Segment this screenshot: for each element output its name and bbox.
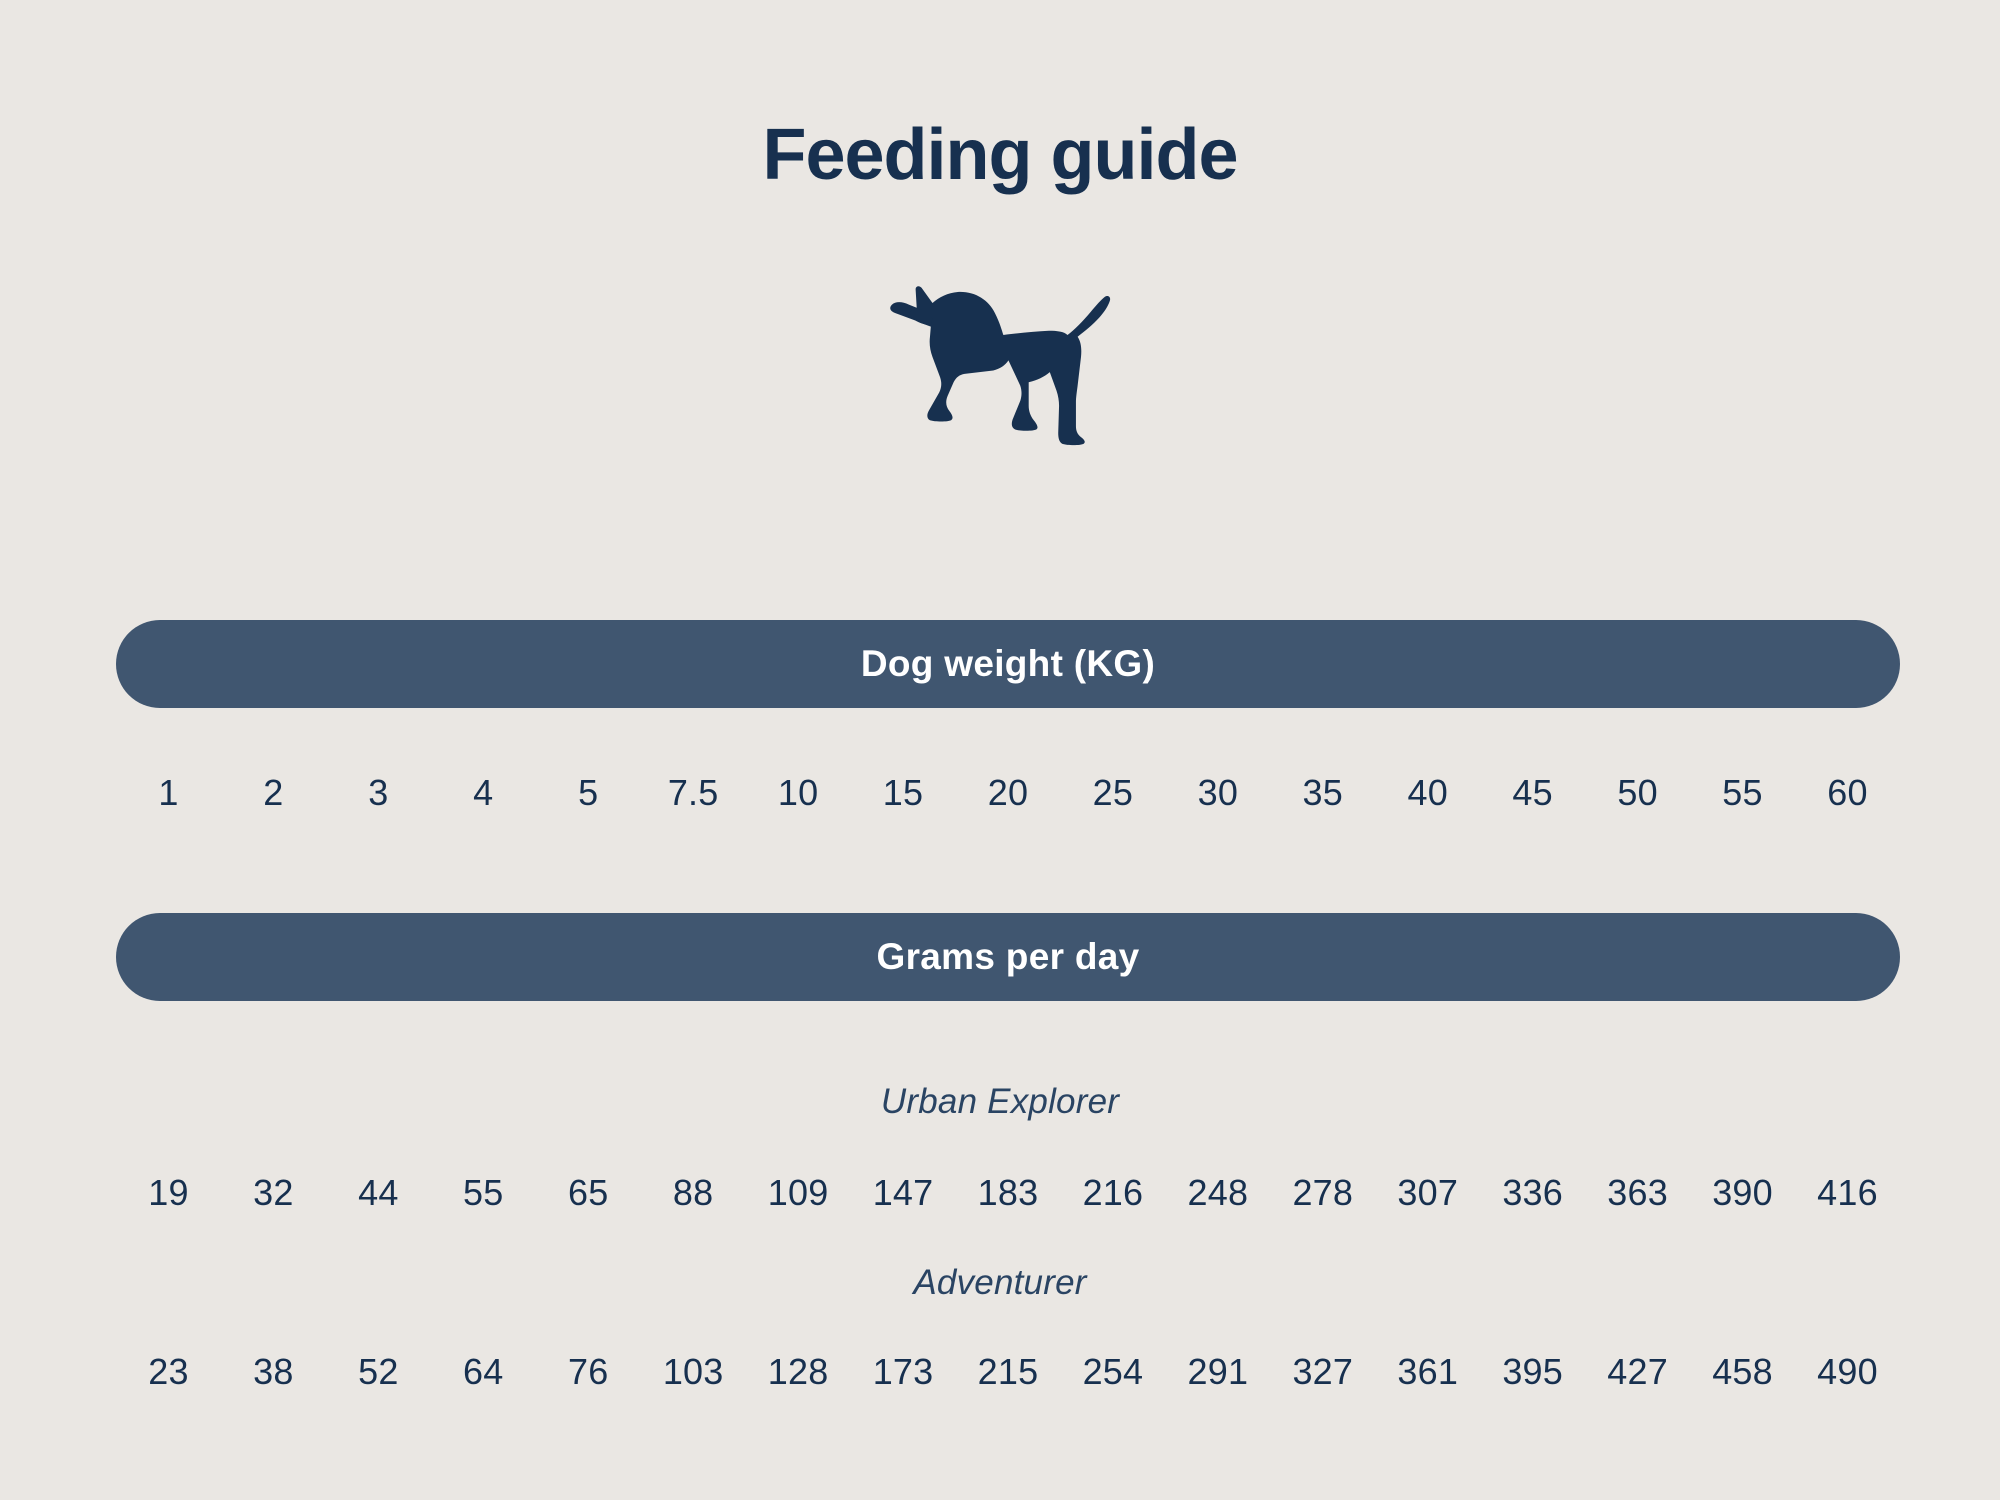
weight-cell: 20 — [956, 772, 1061, 814]
weight-cell: 1 — [116, 772, 221, 814]
urban-explorer-cell: 216 — [1060, 1172, 1165, 1214]
dog-silhouette-icon — [865, 262, 1135, 462]
adventurer-cell: 291 — [1165, 1351, 1270, 1393]
weight-cell: 2 — [221, 772, 326, 814]
urban-explorer-cell: 416 — [1795, 1172, 1900, 1214]
urban-explorer-cell: 363 — [1585, 1172, 1690, 1214]
dog-illustration — [0, 262, 2000, 462]
urban-explorer-values-row: 1932445565881091471832162482783073363633… — [116, 1172, 1900, 1214]
page-title: Feeding guide — [0, 118, 2000, 194]
weight-cell: 60 — [1795, 772, 1900, 814]
product-label-urban-explorer: Urban Explorer — [0, 1082, 2000, 1122]
adventurer-cell: 361 — [1375, 1351, 1480, 1393]
adventurer-cell: 215 — [956, 1351, 1061, 1393]
urban-explorer-cell: 88 — [641, 1172, 746, 1214]
adventurer-cell: 52 — [326, 1351, 431, 1393]
adventurer-cell: 254 — [1060, 1351, 1165, 1393]
weight-cell: 10 — [746, 772, 851, 814]
urban-explorer-cell: 307 — [1375, 1172, 1480, 1214]
adventurer-cell: 327 — [1270, 1351, 1375, 1393]
weight-cell: 4 — [431, 772, 536, 814]
weight-cell: 5 — [536, 772, 641, 814]
urban-explorer-cell: 183 — [956, 1172, 1061, 1214]
weight-cell: 55 — [1690, 772, 1795, 814]
adventurer-cell: 128 — [746, 1351, 851, 1393]
urban-explorer-cell: 390 — [1690, 1172, 1795, 1214]
urban-explorer-cell: 32 — [221, 1172, 326, 1214]
weight-cell: 7.5 — [641, 772, 746, 814]
urban-explorer-cell: 19 — [116, 1172, 221, 1214]
urban-explorer-cell: 147 — [851, 1172, 956, 1214]
weight-cell: 3 — [326, 772, 431, 814]
weight-cell: 30 — [1165, 772, 1270, 814]
weight-cell: 50 — [1585, 772, 1690, 814]
weight-cell: 25 — [1060, 772, 1165, 814]
adventurer-cell: 395 — [1480, 1351, 1585, 1393]
product-label-adventurer: Adventurer — [0, 1263, 2000, 1303]
adventurer-cell: 103 — [641, 1351, 746, 1393]
urban-explorer-cell: 44 — [326, 1172, 431, 1214]
dog-weight-header-bar: Dog weight (KG) — [116, 620, 1900, 708]
dog-weight-values-row: 123457.51015202530354045505560 — [116, 772, 1900, 814]
urban-explorer-cell: 248 — [1165, 1172, 1270, 1214]
weight-cell: 40 — [1375, 772, 1480, 814]
weight-cell: 15 — [851, 772, 956, 814]
urban-explorer-cell: 109 — [746, 1172, 851, 1214]
adventurer-cell: 427 — [1585, 1351, 1690, 1393]
adventurer-cell: 38 — [221, 1351, 326, 1393]
urban-explorer-cell: 55 — [431, 1172, 536, 1214]
urban-explorer-cell: 278 — [1270, 1172, 1375, 1214]
adventurer-cell: 76 — [536, 1351, 641, 1393]
feeding-guide-page: Feeding guide Dog weight (KG) 123457.510… — [0, 0, 2000, 1500]
adventurer-cell: 23 — [116, 1351, 221, 1393]
adventurer-cell: 173 — [851, 1351, 956, 1393]
adventurer-cell: 490 — [1795, 1351, 1900, 1393]
adventurer-cell: 64 — [431, 1351, 536, 1393]
weight-cell: 35 — [1270, 772, 1375, 814]
grams-per-day-header-bar: Grams per day — [116, 913, 1900, 1001]
adventurer-cell: 458 — [1690, 1351, 1795, 1393]
dog-weight-header-label: Dog weight (KG) — [861, 643, 1155, 685]
weight-cell: 45 — [1480, 772, 1585, 814]
grams-per-day-header-label: Grams per day — [876, 936, 1139, 978]
urban-explorer-cell: 65 — [536, 1172, 641, 1214]
adventurer-values-row: 2338526476103128173215254291327361395427… — [116, 1351, 1900, 1393]
urban-explorer-cell: 336 — [1480, 1172, 1585, 1214]
